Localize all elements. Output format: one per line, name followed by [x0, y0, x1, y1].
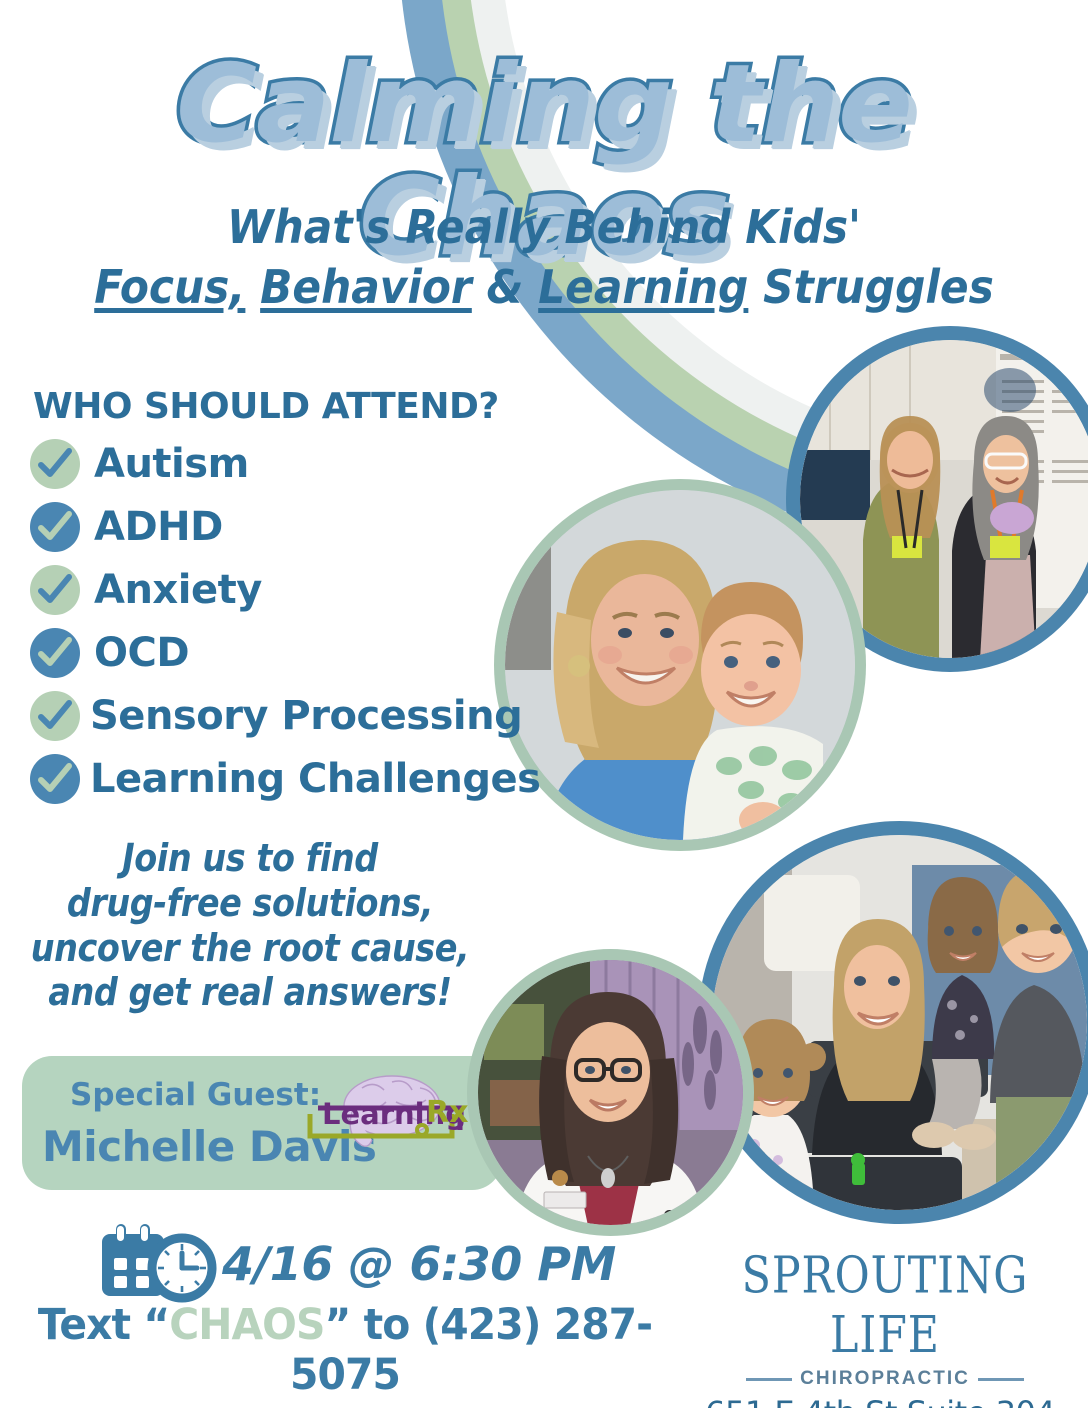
attend-item-label: Sensory Processing: [90, 693, 522, 739]
attend-checklist: AutismADHDAnxietyOCDSensory ProcessingLe…: [30, 432, 540, 810]
checkmark-icon: [30, 565, 80, 615]
pitch-line-3: uncover the root cause,: [30, 926, 470, 971]
register-keyword: CHAOS: [169, 1300, 324, 1350]
checkmark-icon: [30, 439, 80, 489]
attend-item: Autism: [30, 432, 540, 495]
attend-heading: WHO SHOULD ATTEND?: [33, 386, 499, 427]
checkmark-icon: [30, 628, 80, 678]
subtitle-line-2: Focus, Behavior & Learning Struggles: [44, 260, 1045, 314]
subtitle-ampersand: &: [487, 260, 524, 314]
attend-item-label: Autism: [94, 441, 249, 487]
register-block: Text “CHAOS” to (423) 287-5075 to regist…: [0, 1300, 690, 1408]
attend-item: OCD: [30, 621, 540, 684]
attend-item: Anxiety: [30, 558, 540, 621]
register-line-2: to register!: [17, 1402, 673, 1408]
divider-right: [978, 1378, 1024, 1381]
pitch-block: Join us to find drug-free solutions, unc…: [0, 836, 500, 1015]
learningrx-word-rx: Rx: [426, 1095, 468, 1130]
attend-item-label: Learning Challenges: [90, 756, 540, 802]
subtitle-block: What's Really Behind Kids' Focus, Behavi…: [0, 200, 1088, 314]
subtitle-behavior: Behavior: [260, 260, 472, 314]
register-middle: ” to: [324, 1300, 422, 1350]
mom-baby-photo: [505, 490, 855, 840]
pitch-line-1: Join us to find: [30, 836, 470, 881]
attend-item: Sensory Processing: [30, 684, 540, 747]
pitch-line-2: drug-free solutions,: [30, 881, 470, 926]
clinic-logo-block: SPROUTING LIFE CHIROPRACTIC 651 E 4th St…: [690, 1252, 1080, 1408]
subtitle-line-1: What's Really Behind Kids': [44, 200, 1045, 254]
pitch-line-4: and get real answers!: [30, 970, 470, 1015]
attend-item-label: ADHD: [94, 504, 223, 550]
checkmark-icon: [30, 691, 80, 741]
clinic-tagline: CHIROPRACTIC: [800, 1368, 970, 1390]
special-guest-label: Special Guest:: [70, 1077, 321, 1113]
checkmark-icon: [30, 502, 80, 552]
learningrx-logo: Learning Rx: [300, 1072, 468, 1156]
subtitle-struggles: Struggles: [763, 260, 994, 314]
clinic-name: SPROUTING LIFE: [700, 1246, 1071, 1365]
attend-item-label: OCD: [94, 630, 189, 676]
michelle-portrait: [478, 960, 743, 1225]
register-prefix: Text “: [38, 1300, 169, 1350]
event-datetime-row: 4/16 @ 6:30 PM: [100, 1222, 616, 1306]
family-group-photo: [712, 835, 1087, 1210]
divider-left: [746, 1378, 792, 1381]
event-datetime: 4/16 @ 6:30 PM: [222, 1237, 616, 1291]
attend-item-label: Anxiety: [94, 567, 262, 613]
register-line-1: Text “CHAOS” to (423) 287-5075: [17, 1300, 673, 1400]
attend-item: ADHD: [30, 495, 540, 558]
flyer-page: Calming the Chaos What's Really Behind K…: [0, 0, 1088, 1408]
subtitle-learning: Learning: [538, 260, 748, 314]
attend-item: Learning Challenges: [30, 747, 540, 810]
clinic-address-line-1: 651 E 4th St Suite 304,: [690, 1396, 1080, 1408]
clinic-tagline-row: CHIROPRACTIC: [690, 1368, 1080, 1390]
calendar-clock-icon: [100, 1222, 218, 1306]
checkmark-icon: [30, 754, 80, 804]
subtitle-focus: Focus,: [94, 260, 245, 314]
